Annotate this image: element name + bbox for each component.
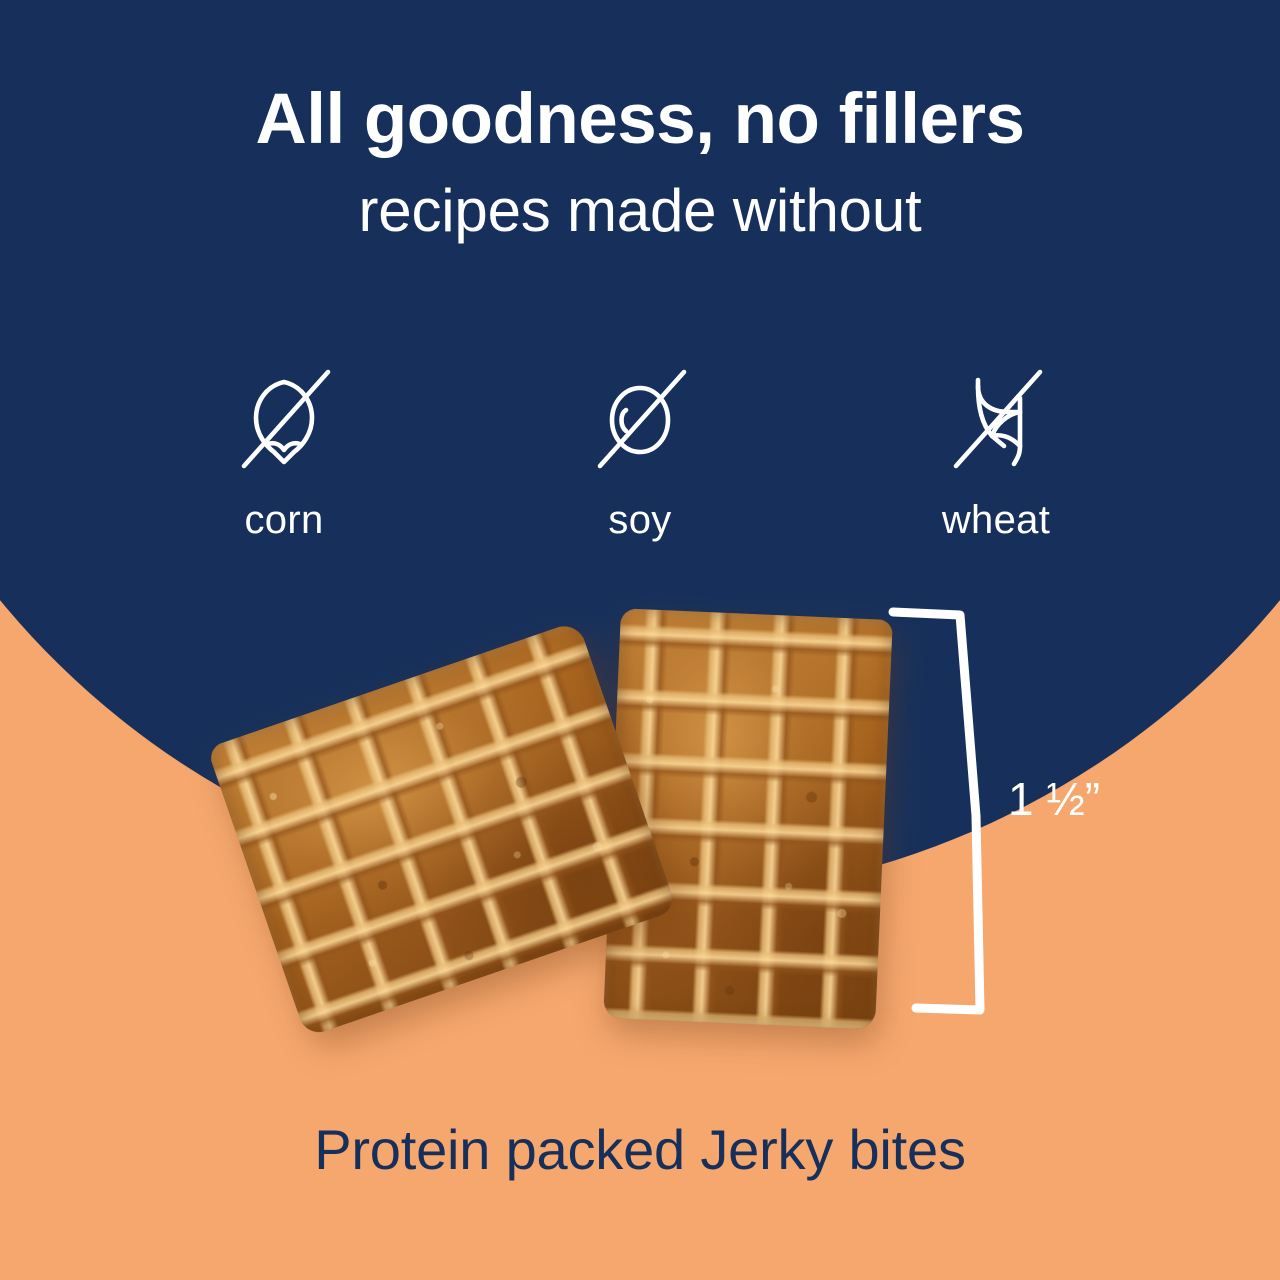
allergen-label-soy: soy [608,500,671,540]
allergen-free-list: corn soy [0,356,1280,540]
no-soy-icon [578,356,702,480]
allergen-item-corn: corn [106,356,462,540]
allergen-item-soy: soy [462,356,818,540]
product-caption: Protein packed Jerky bites [0,1122,1280,1178]
product-feature-image: All goodness, no fillers recipes made wi… [0,0,1280,1280]
size-bracket [880,596,1020,1036]
no-wheat-icon [934,356,1058,480]
page-subtitle: recipes made without [0,181,1280,241]
allergen-label-wheat: wheat [942,500,1050,540]
allergen-label-corn: corn [244,500,323,540]
no-corn-icon [222,356,346,480]
hero-text-block: All goodness, no fillers recipes made wi… [0,84,1280,241]
allergen-item-wheat: wheat [818,356,1174,540]
size-bracket-shape [880,596,1020,1036]
page-title: All goodness, no fillers [0,84,1280,155]
size-label: 1 ½” [1008,776,1100,822]
